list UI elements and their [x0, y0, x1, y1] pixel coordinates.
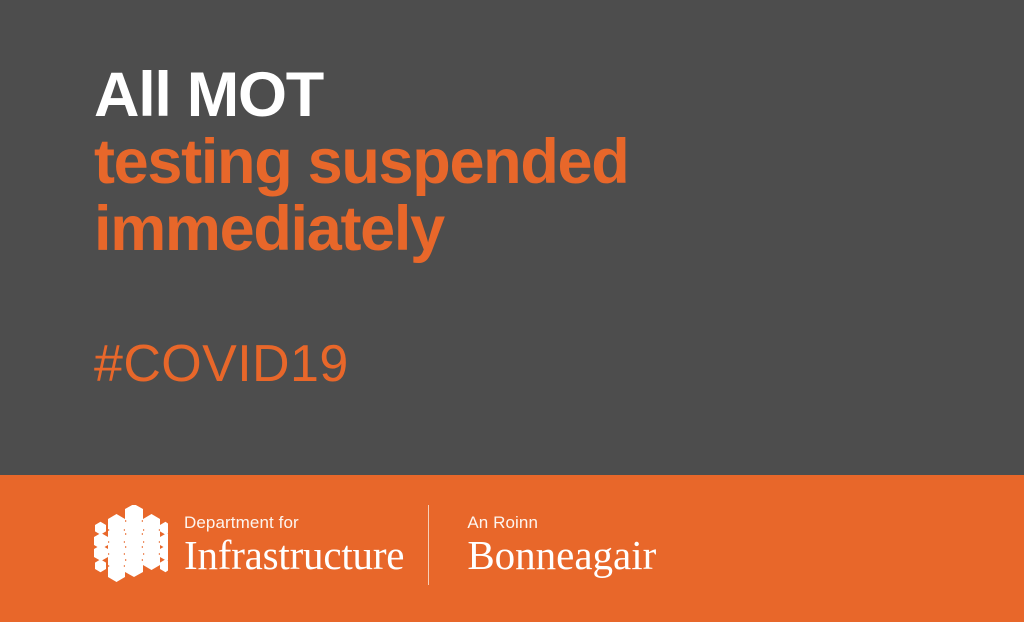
department-logo-lockup: Department for Infrastructure An Roinn B… — [94, 501, 656, 589]
message-panel: All MOT testing suspended immediately #C… — [0, 0, 1024, 475]
wordmark-irish: An Roinn Bonneagair — [467, 513, 656, 577]
headline-line-2: testing suspended — [94, 129, 954, 196]
wordmark-english: Department for Infrastructure — [184, 513, 404, 577]
lockup-divider — [428, 505, 429, 585]
wordmark-name-irish: Bonneagair — [467, 533, 656, 577]
wordmark-kicker-irish: An Roinn — [467, 513, 656, 532]
headline-block: All MOT testing suspended immediately — [94, 62, 954, 263]
hashtag-covid19: #COVID19 — [94, 336, 349, 392]
hexagon-grid-logo-icon — [94, 505, 168, 585]
brand-band: Department for Infrastructure An Roinn B… — [0, 475, 1024, 622]
wordmark-name-english: Infrastructure — [184, 533, 404, 577]
wordmark-kicker-english: Department for — [184, 513, 404, 532]
poster-canvas: All MOT testing suspended immediately #C… — [0, 0, 1024, 622]
headline-line-1: All MOT — [94, 62, 954, 129]
headline-line-3: immediately — [94, 196, 954, 263]
